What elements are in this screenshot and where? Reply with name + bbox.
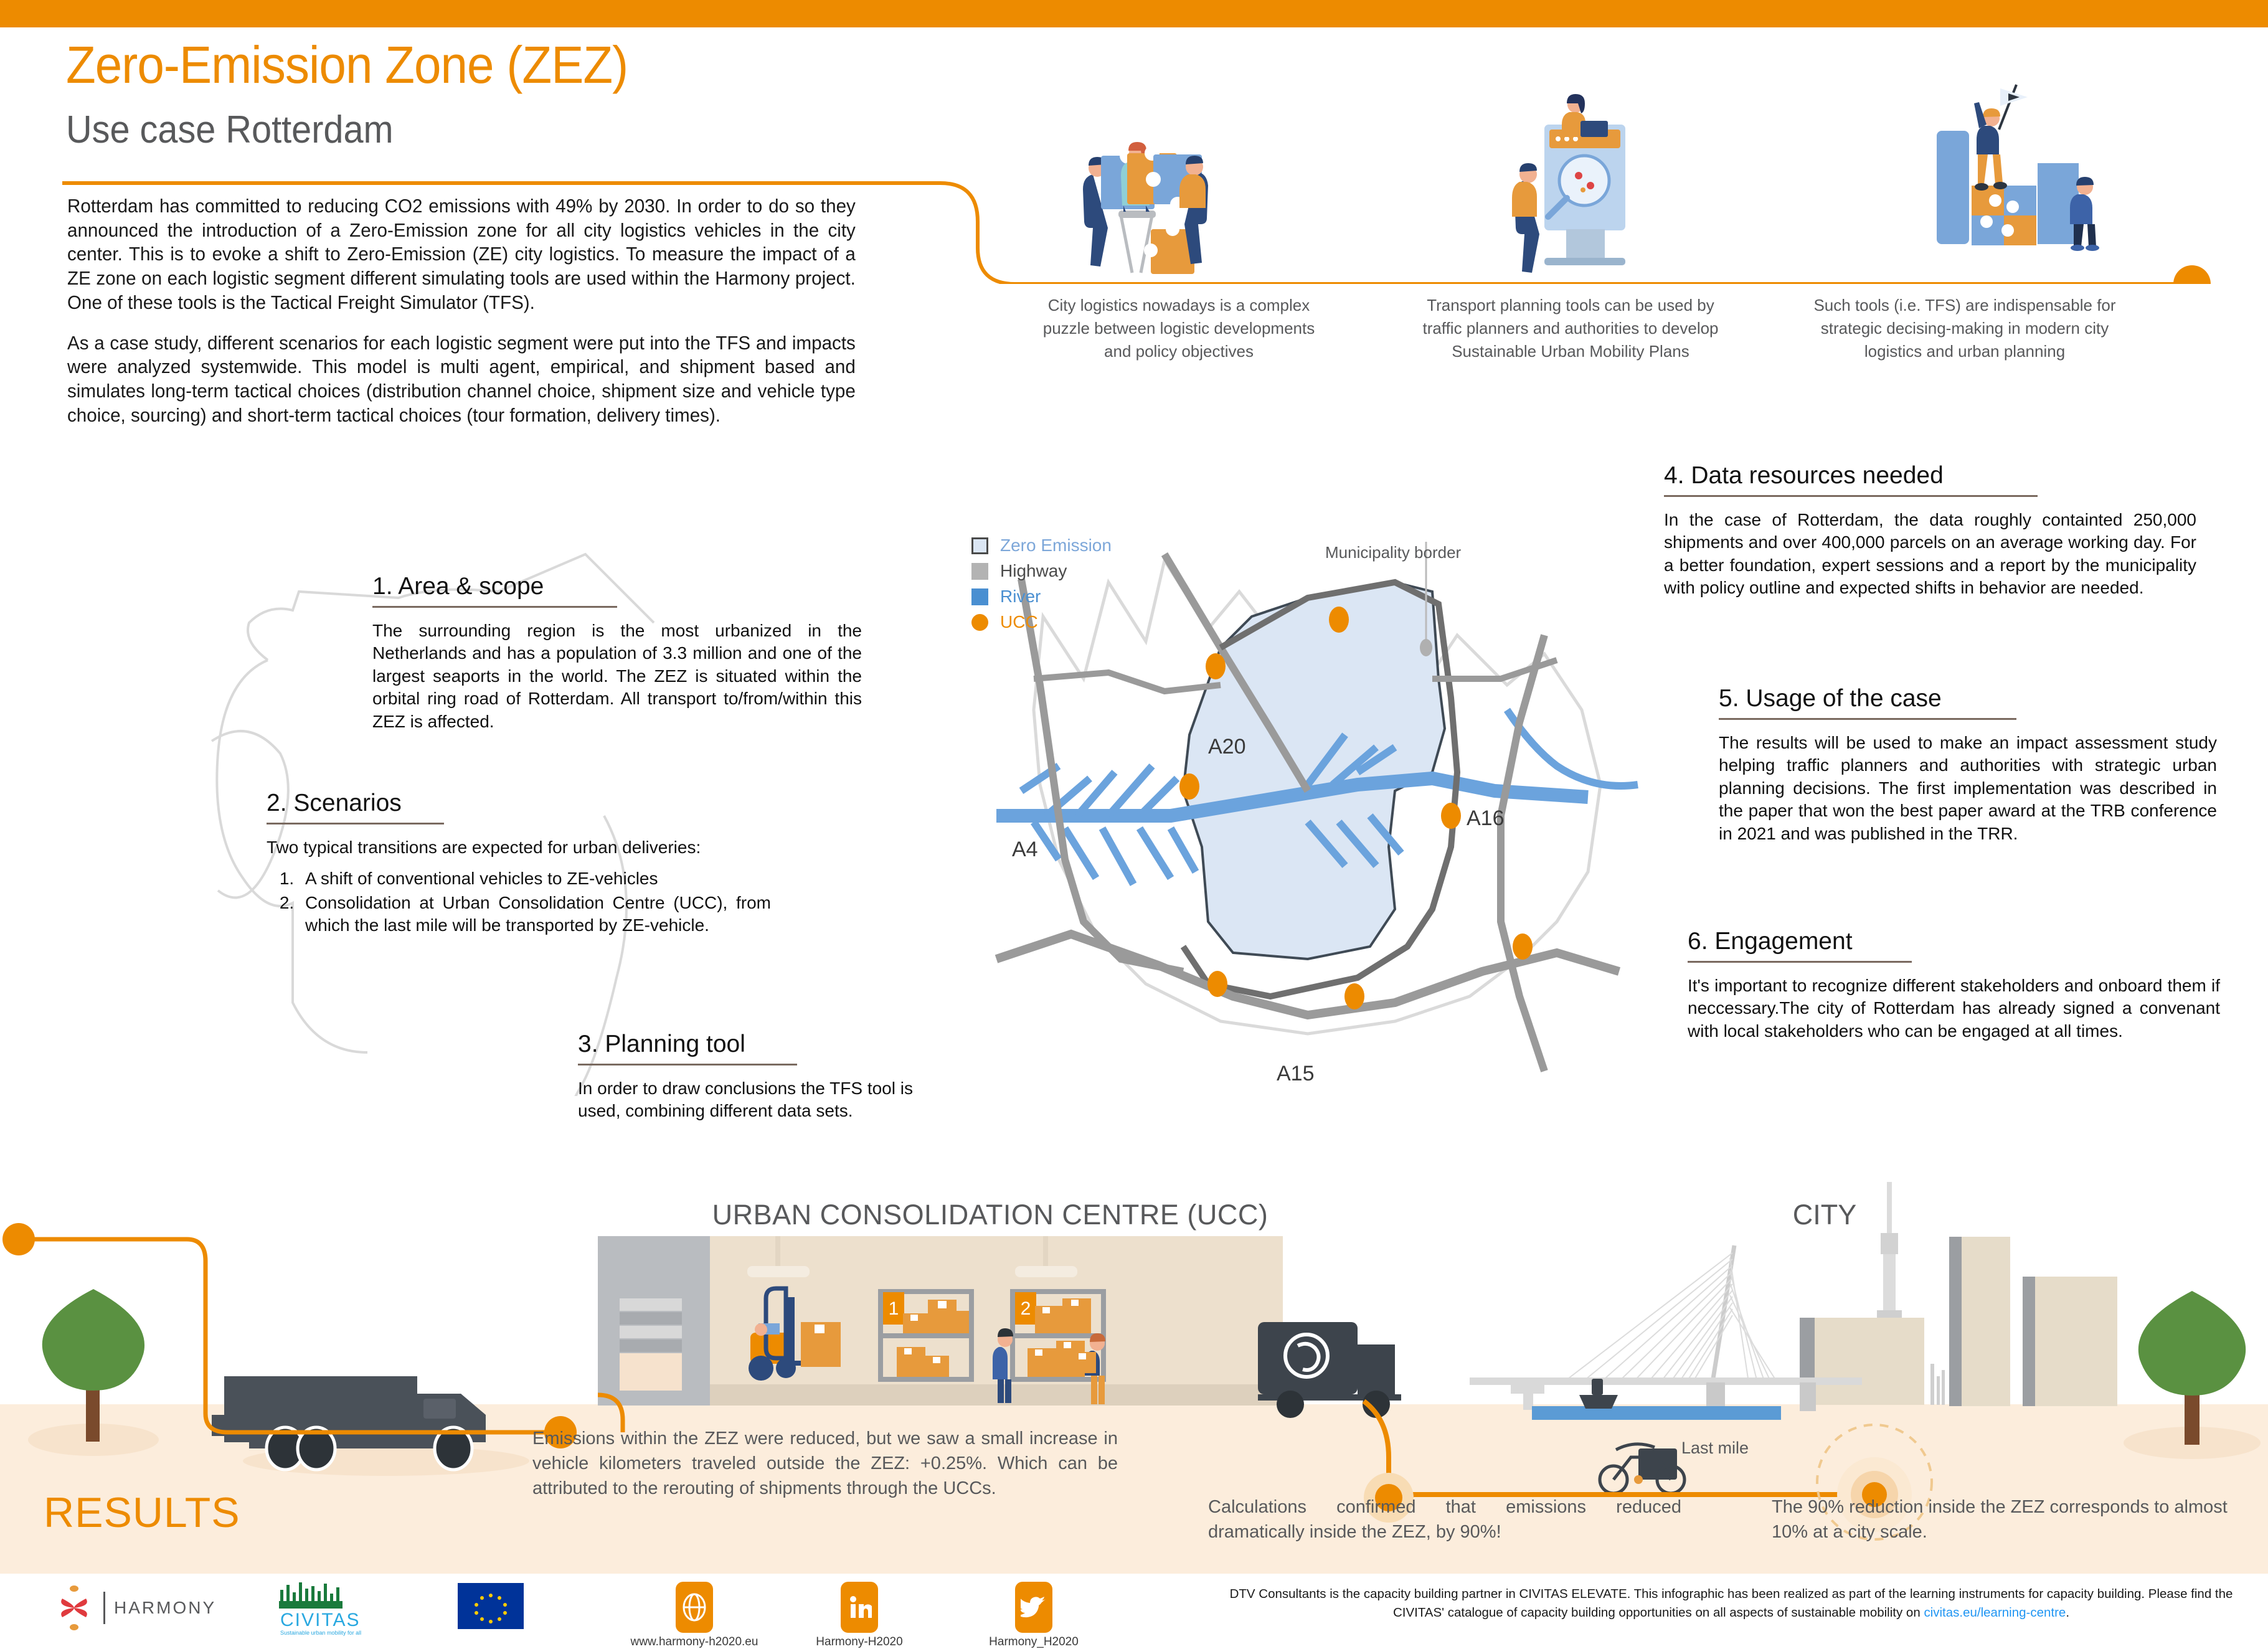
cargo-bike-illustration bbox=[1591, 1426, 1703, 1495]
top-accent-bar bbox=[0, 0, 2268, 27]
tree-left-illustration bbox=[19, 1277, 162, 1463]
electric-delivery-truck-illustration bbox=[1252, 1317, 1457, 1423]
section-4-underline bbox=[1664, 495, 2038, 497]
illustration-caption-1: City logistics nowadays is a complex puz… bbox=[1039, 294, 1319, 363]
linkedin-caption: Harmony-H2020 bbox=[788, 1635, 931, 1649]
legend-item-zero-emission: Zero Emission bbox=[971, 536, 1112, 555]
section-area-scope: 1. Area & scope The surrounding region i… bbox=[372, 573, 862, 733]
section-6-body: It's important to recognize different st… bbox=[1688, 975, 2220, 1042]
city-section-title: CITY bbox=[1750, 1199, 1899, 1231]
section-5-underline bbox=[1719, 718, 2016, 720]
zero-emission-swatch-icon bbox=[971, 537, 988, 554]
result-text-3: The 90% reduction inside the ZEZ corresp… bbox=[1772, 1495, 2245, 1544]
legend-item-river: River bbox=[971, 587, 1112, 607]
result-text-1: Emissions within the ZEZ were reduced, b… bbox=[532, 1426, 1118, 1501]
section-2-heading: 2. Scenarios bbox=[267, 790, 402, 823]
ucc-dot-icon bbox=[971, 614, 988, 631]
section-1-body: The surrounding region is the most urban… bbox=[372, 620, 862, 733]
strategic-growth-illustration bbox=[1918, 69, 2192, 274]
linkedin-icon bbox=[841, 1582, 878, 1633]
rack-label-1: 1 bbox=[889, 1298, 899, 1319]
harmony-wordmark: HARMONY bbox=[114, 1598, 216, 1618]
section-1-underline bbox=[372, 606, 617, 608]
scenario-list: A shift of conventional vehicles to ZE-v… bbox=[267, 867, 771, 937]
civitas-logo[interactable]: CIVITAS Sustainable urban mobility for a… bbox=[268, 1579, 386, 1642]
planning-tools-illustration bbox=[1451, 87, 1700, 280]
ucc-section-title: URBAN CONSOLIDATION CENTRE (UCC) bbox=[704, 1199, 1277, 1231]
section-3-underline bbox=[578, 1064, 797, 1065]
infographic-poster: Zero-Emission Zone (ZEZ) Use case Rotter… bbox=[0, 0, 2268, 1638]
puzzle-teamwork-illustration bbox=[1059, 93, 1320, 280]
legend-label: UCC bbox=[1000, 612, 1038, 632]
section-5-body: The results will be used to make an impa… bbox=[1719, 732, 2217, 845]
illustration-caption-3: Such tools (i.e. TFS) are indispensable … bbox=[1806, 294, 2124, 363]
section-data-resources: 4. Data resources needed In the case of … bbox=[1664, 462, 2196, 600]
highway-label-a16: A16 bbox=[1467, 806, 1505, 831]
ucc-warehouse-illustration: 1 2 bbox=[592, 1230, 1289, 1417]
result-text-2: Calculations confirmed that emissions re… bbox=[1208, 1495, 1681, 1544]
footer-note-text-1: DTV Consultants is the capacity building… bbox=[1230, 1587, 2233, 1620]
tree-right-illustration bbox=[2117, 1280, 2268, 1467]
website-caption: www.harmony-h2020.eu bbox=[623, 1635, 766, 1649]
map-legend: Zero Emission Highway River UCC bbox=[971, 536, 1112, 638]
footer-note-text-2: . bbox=[2066, 1605, 2069, 1620]
intro-text-block: Rotterdam has committed to reducing CO2 … bbox=[67, 194, 880, 444]
eu-flag-logo[interactable] bbox=[458, 1583, 524, 1632]
svg-text:CIVITAS: CIVITAS bbox=[280, 1610, 360, 1630]
section-6-underline bbox=[1688, 961, 1912, 963]
river-swatch-icon bbox=[971, 588, 988, 605]
website-link[interactable]: www.harmony-h2020.eu bbox=[623, 1582, 766, 1649]
section-5-heading: 5. Usage of the case bbox=[1719, 685, 1942, 718]
section-1-heading: 1. Area & scope bbox=[372, 573, 544, 606]
eu-flag-icon bbox=[458, 1583, 524, 1629]
harmony-mark-icon bbox=[54, 1585, 95, 1631]
legend-item-ucc: UCC bbox=[971, 612, 1112, 632]
section-3-body: In order to draw conclusions the TFS too… bbox=[578, 1077, 952, 1123]
municipality-border-annotation: Municipality border bbox=[1325, 543, 1461, 562]
twitter-icon bbox=[1015, 1582, 1052, 1633]
twitter-link[interactable]: Harmony_H2020 bbox=[962, 1582, 1105, 1649]
section-usage-of-case: 5. Usage of the case The results will be… bbox=[1719, 685, 2217, 845]
footer-note: DTV Consultants is the capacity building… bbox=[1221, 1585, 2242, 1622]
highway-swatch-icon bbox=[971, 563, 988, 580]
section-4-heading: 4. Data resources needed bbox=[1664, 462, 1944, 495]
diesel-truck-illustration bbox=[212, 1333, 560, 1476]
results-title: RESULTS bbox=[44, 1488, 240, 1537]
highway-label-a4: A4 bbox=[1012, 838, 1038, 862]
page-subtitle: Use case Rotterdam bbox=[66, 111, 394, 149]
globe-icon bbox=[676, 1582, 713, 1633]
legend-label: Highway bbox=[1000, 561, 1067, 581]
section-scenarios: 2. Scenarios Two typical transitions are… bbox=[267, 790, 771, 938]
highway-label-a20: A20 bbox=[1208, 735, 1246, 759]
section-6-heading: 6. Engagement bbox=[1688, 928, 1853, 961]
section-2-body: Two typical transitions are expected for… bbox=[267, 836, 771, 859]
legend-item-highway: Highway bbox=[971, 561, 1112, 581]
list-item: Consolidation at Urban Consolidation Cen… bbox=[299, 892, 771, 937]
last-mile-label: Last mile bbox=[1681, 1439, 1749, 1458]
twitter-caption: Harmony_H2020 bbox=[962, 1635, 1105, 1649]
intro-paragraph-2: As a case study, different scenarios for… bbox=[67, 331, 856, 428]
legend-label: River bbox=[1000, 587, 1041, 607]
list-item: A shift of conventional vehicles to ZE-v… bbox=[299, 867, 771, 890]
rack-label-2: 2 bbox=[1021, 1298, 1031, 1319]
svg-text:Sustainable urban mobility for: Sustainable urban mobility for all bbox=[280, 1630, 361, 1636]
section-3-heading: 3. Planning tool bbox=[578, 1031, 745, 1064]
page-title: Zero-Emission Zone (ZEZ) bbox=[66, 39, 628, 91]
section-engagement: 6. Engagement It's important to recogniz… bbox=[1688, 928, 2220, 1042]
intro-paragraph-1: Rotterdam has committed to reducing CO2 … bbox=[67, 194, 856, 315]
illustration-caption-2: Transport planning tools can be used by … bbox=[1409, 294, 1732, 363]
harmony-logo[interactable]: HARMONY bbox=[54, 1585, 216, 1631]
section-2-underline bbox=[267, 823, 444, 825]
civitas-learning-centre-link[interactable]: civitas.eu/learning-centre bbox=[1924, 1605, 2066, 1620]
civitas-mark-icon: CIVITAS Sustainable urban mobility for a… bbox=[268, 1579, 386, 1638]
legend-label: Zero Emission bbox=[1000, 536, 1112, 555]
section-planning-tool: 3. Planning tool In order to draw conclu… bbox=[578, 1031, 952, 1123]
section-4-body: In the case of Rotterdam, the data rough… bbox=[1664, 509, 2196, 600]
highway-label-a15: A15 bbox=[1277, 1062, 1315, 1086]
linkedin-link[interactable]: Harmony-H2020 bbox=[788, 1582, 931, 1649]
